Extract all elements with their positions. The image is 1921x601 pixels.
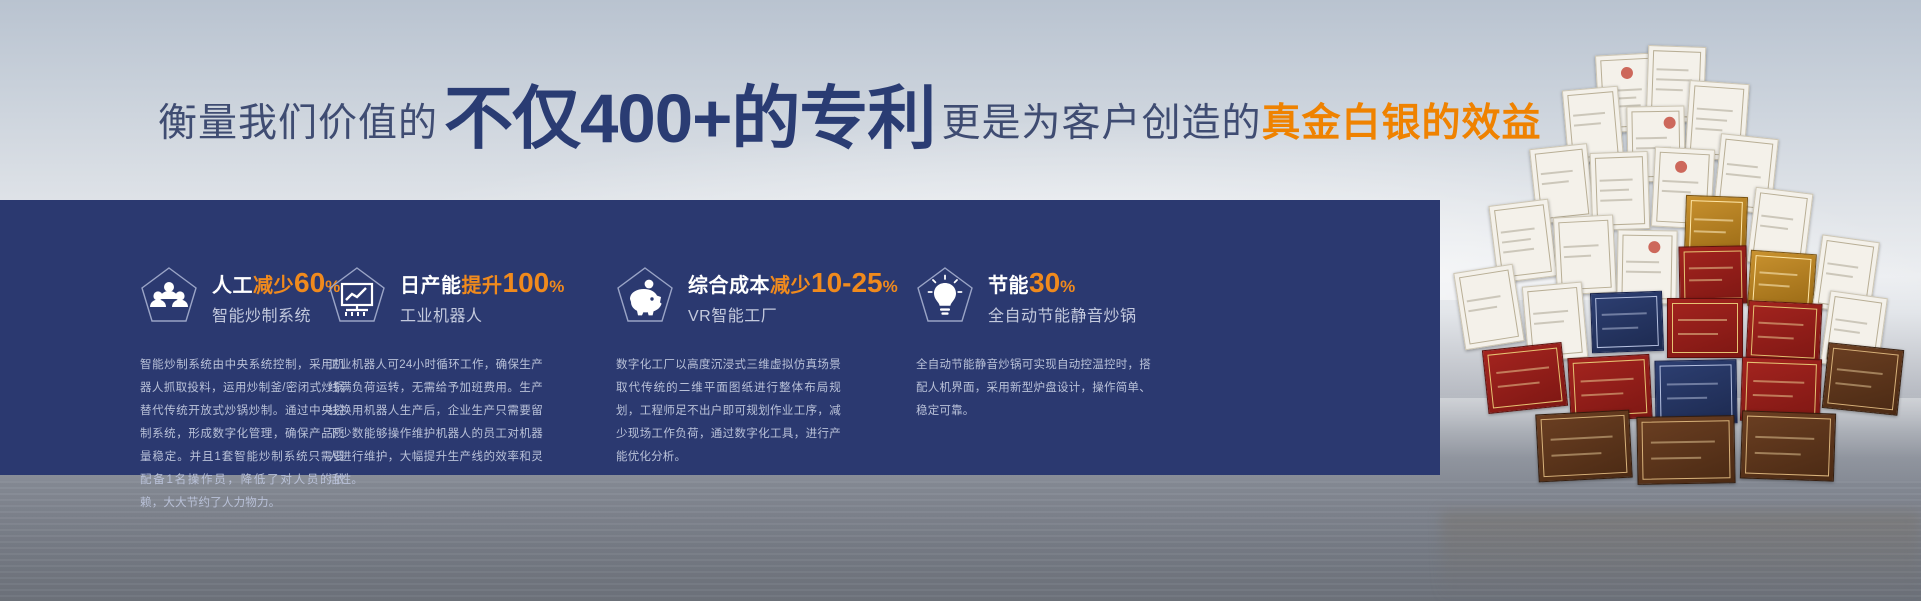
- metric-label: 人工: [212, 275, 253, 297]
- certificate-item: [1453, 264, 1524, 350]
- feature-card-energy: 节能30% 全自动节能静音炒锅 全自动节能静音炒锅可实现自动控温控时，搭配人机界…: [898, 200, 1228, 475]
- card-body-text: 全自动节能静音炒锅可实现自动控温控时，搭配人机界面，采用新型炉盘设计，操作简单、…: [916, 354, 1151, 423]
- headline: 衡量我们价值的 不仅400+的专利 更是为客户创造的 真金白银的效益: [158, 78, 1541, 147]
- metric-label: 节能: [988, 275, 1029, 297]
- feature-card-labor: 人工减少60% 智能炒制系统 智能炒制系统由中央系统控制，采用机器人抓取投料，运…: [0, 200, 310, 475]
- metric-line: 日产能提升100%: [400, 268, 564, 297]
- award-plaque: [1667, 298, 1743, 358]
- headline-lead: 衡量我们价值的: [158, 104, 438, 143]
- card-header: 综合成本减少10-25% VR智能工厂: [616, 266, 898, 328]
- card-subtitle: 全自动节能静音炒锅: [988, 302, 1137, 326]
- metric-label: 综合成本: [688, 275, 770, 297]
- card-head-text: 综合成本减少10-25% VR智能工厂: [688, 268, 898, 325]
- award-plaque: [1636, 415, 1735, 485]
- metric-verb: 减少: [770, 275, 811, 297]
- card-header: 日产能提升100% 工业机器人: [328, 266, 598, 328]
- piggy-bank-icon: [616, 266, 674, 328]
- metric-unit: %: [1060, 277, 1075, 296]
- award-plaque: [1745, 300, 1822, 364]
- metric-value: 30: [1029, 267, 1060, 298]
- card-subtitle: VR智能工厂: [688, 302, 898, 326]
- metric-verb: 减少: [253, 275, 294, 297]
- award-plaque: [1678, 245, 1747, 304]
- chart-board-icon: [328, 266, 386, 328]
- metric-unit: %: [549, 277, 564, 296]
- card-body-text: 工业机器人可24小时循环工作，确保生产线满负荷运转，无需给予加班费用。生产线换用…: [328, 354, 543, 492]
- award-plaque: [1535, 410, 1632, 483]
- features-panel: 人工减少60% 智能炒制系统 智能炒制系统由中央系统控制，采用机器人抓取投料，运…: [0, 200, 1440, 475]
- award-plaque: [1482, 342, 1568, 414]
- card-head-text: 日产能提升100% 工业机器人: [400, 268, 564, 325]
- promo-banner: 衡量我们价值的 不仅400+的专利 更是为客户创造的 真金白银的效益: [0, 0, 1921, 601]
- feature-card-cost: 综合成本减少10-25% VR智能工厂 数字化工厂以高度沉浸式三维虚拟仿真场景取…: [598, 200, 898, 475]
- card-subtitle: 工业机器人: [400, 302, 564, 326]
- metric-unit: %: [883, 277, 898, 296]
- card-header: 人工减少60% 智能炒制系统: [140, 266, 310, 328]
- award-plaque: [1590, 291, 1664, 353]
- card-header: 节能30% 全自动节能静音炒锅: [916, 266, 1228, 328]
- feature-card-capacity: 日产能提升100% 工业机器人 工业机器人可24小时循环工作，确保生产线满负荷运…: [310, 200, 598, 475]
- metric-line: 节能30%: [988, 268, 1137, 297]
- people-group-icon: [140, 266, 198, 328]
- metric-label: 日产能: [400, 275, 462, 297]
- lightbulb-icon: [916, 266, 974, 328]
- card-body-text: 数字化工厂以高度沉浸式三维虚拟仿真场景取代传统的二维平面图纸进行整体布局规划，工…: [616, 354, 841, 469]
- metric-value: 100: [503, 267, 550, 298]
- metric-line: 综合成本减少10-25%: [688, 268, 898, 297]
- headline-middle: 更是为客户创造的: [941, 104, 1261, 143]
- award-plaque: [1740, 410, 1836, 481]
- feature-card-list: 人工减少60% 智能炒制系统 智能炒制系统由中央系统控制，采用机器人抓取投料，运…: [0, 200, 1440, 475]
- headline-emphasis: 不仅400+的专利: [444, 84, 935, 153]
- metric-verb: 提升: [462, 275, 503, 297]
- metric-value: 10-25: [811, 267, 883, 298]
- card-head-text: 节能30% 全自动节能静音炒锅: [988, 268, 1137, 325]
- certificate-wall: [1441, 40, 1921, 520]
- award-plaque: [1822, 342, 1904, 416]
